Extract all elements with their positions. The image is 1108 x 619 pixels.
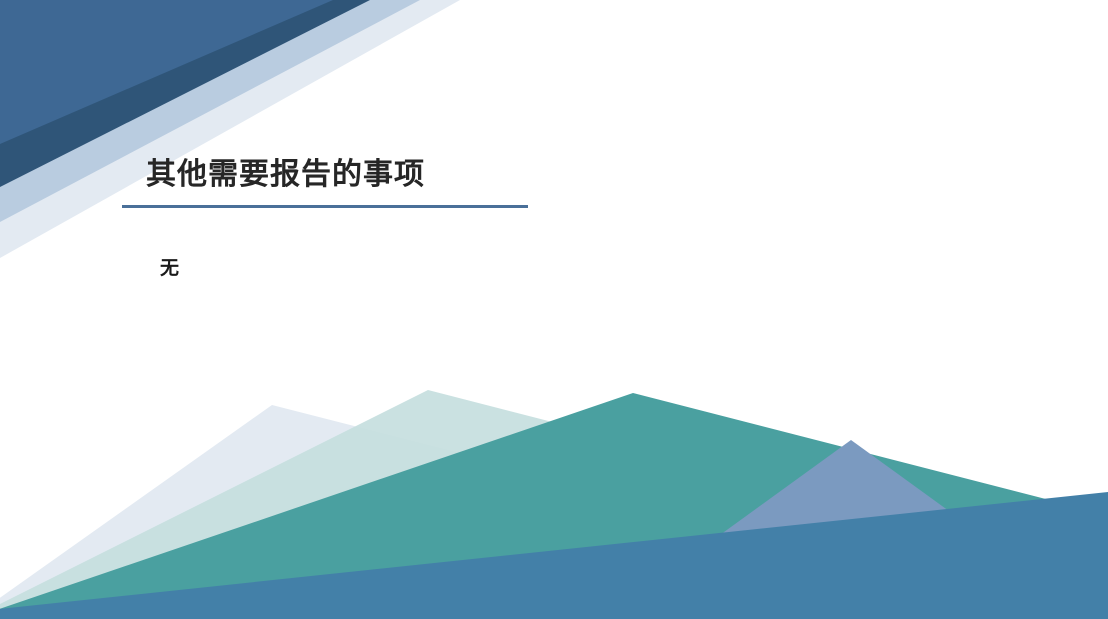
slide-body-text: 无 xyxy=(160,255,179,283)
page-title: 其他需要报告的事项 xyxy=(146,155,425,195)
slide-content: 其他需要报告的事项 无 xyxy=(0,0,1108,619)
title-underline-rule xyxy=(122,205,528,208)
slide-canvas: 其他需要报告的事项 无 xyxy=(0,0,1108,619)
